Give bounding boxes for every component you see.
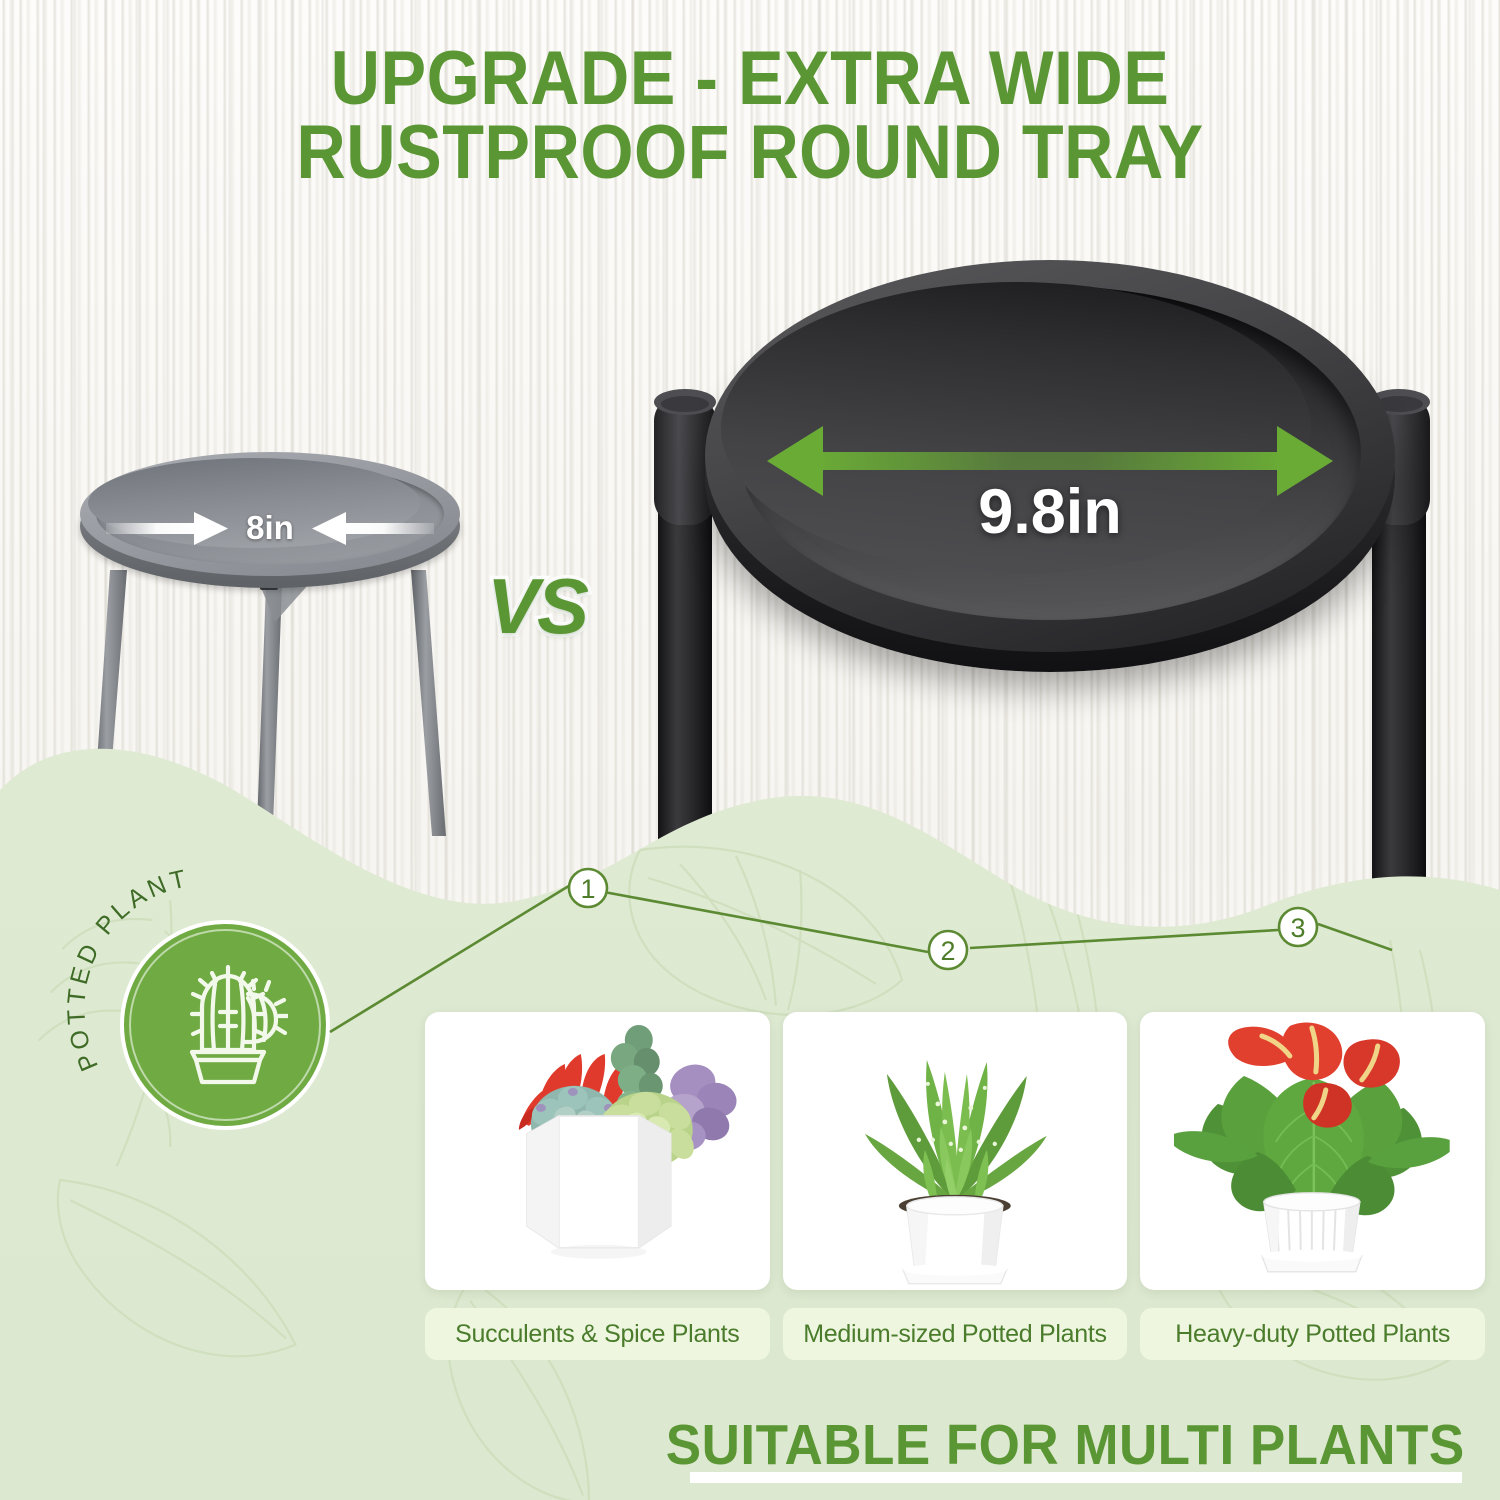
old-dimension-label: 8in [98, 504, 442, 552]
node-3: 3 [1279, 908, 1317, 946]
plant-card-succulents[interactable] [425, 1012, 770, 1290]
footer-tagline: SUITABLE FOR MULTI PLANTS [105, 1412, 1500, 1478]
caption-list: Succulents & Spice Plants Medium-sized P… [425, 1308, 1485, 1360]
ribbed-pot [1262, 1193, 1362, 1272]
anthurium-plant-photo [1140, 1012, 1485, 1290]
caption-medium-plants: Medium-sized Potted Plants [783, 1308, 1128, 1360]
old-product-dimension: 8in [98, 504, 442, 554]
plant-card-anthurium[interactable] [1140, 1012, 1485, 1290]
page-title: UPGRADE - EXTRA WIDE RUSTPROOF ROUND TRA… [75, 42, 1425, 191]
footer-underline [690, 1472, 1462, 1483]
node-2: 2 [929, 931, 967, 969]
node-1: 1 [569, 869, 607, 907]
aloe-leaves [865, 1060, 1047, 1206]
vs-badge: VS [487, 561, 587, 652]
node-2-label: 2 [940, 936, 955, 966]
new-product-tray: 9.8in [705, 260, 1395, 680]
new-product-dimension: 9.8in [761, 418, 1339, 538]
caption-succulents: Succulents & Spice Plants [425, 1308, 770, 1360]
old-product-tray: 8in [80, 452, 460, 612]
headline-line-2: RUSTPROOF ROUND TRAY [75, 116, 1425, 190]
plant-card-list [425, 1012, 1485, 1292]
caption-heavy-duty: Heavy-duty Potted Plants [1140, 1308, 1485, 1360]
headline-line-1: UPGRADE - EXTRA WIDE [75, 42, 1425, 116]
product-infographic: UPGRADE - EXTRA WIDE RUSTPROOF ROUND TRA… [0, 0, 1500, 1500]
white-round-pot [903, 1197, 1007, 1284]
hexagonal-pot [527, 1116, 671, 1259]
new-dimension-label: 9.8in [761, 480, 1339, 544]
node-1-label: 1 [580, 874, 595, 904]
old-product-stand: 8in [70, 452, 470, 882]
node-3-label: 3 [1290, 913, 1305, 943]
plant-card-aloe[interactable] [783, 1012, 1128, 1290]
aloe-plant-photo [783, 1012, 1128, 1290]
succulents-photo [425, 1012, 770, 1290]
